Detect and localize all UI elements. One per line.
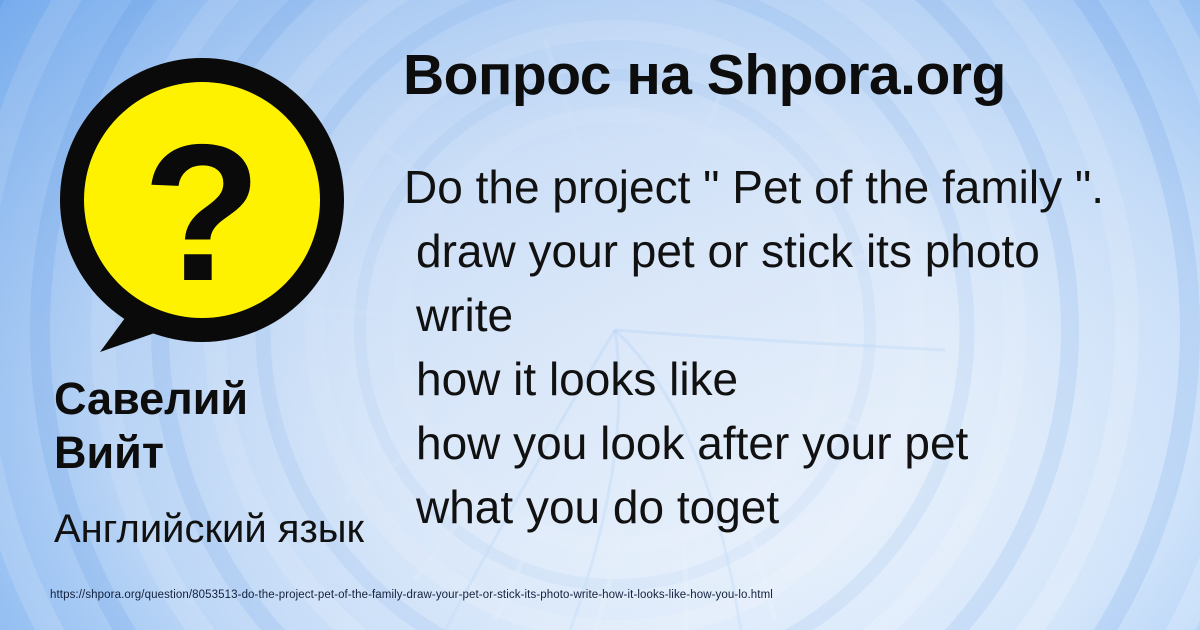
source-url[interactable]: https://shpora.org/question/8053513-do-t… [50,589,773,601]
question-body: Do the project " Pet of the family ". dr… [404,155,1200,539]
author-name: Савелий Вийт [54,372,384,480]
question-line: write [404,283,1200,347]
question-line: what you do toget [404,475,1200,539]
page-title: Вопрос на Shpora.org [403,44,1006,107]
author-first-name: Савелий [54,372,384,426]
question-card: ? Вопрос на Shpora.org Do the project " … [0,0,1200,630]
question-line: how you look after your pet [404,411,1200,475]
question-speech-bubble-icon: ? [42,52,362,362]
question-line: Do the project " Pet of the family ". [404,155,1200,219]
question-mark-glyph: ? [142,104,261,322]
author-last-name: Вийт [54,426,384,480]
subject-label: Английский язык [54,505,364,553]
question-line: how it looks like [404,347,1200,411]
question-line: draw your pet or stick its photo [404,219,1200,283]
